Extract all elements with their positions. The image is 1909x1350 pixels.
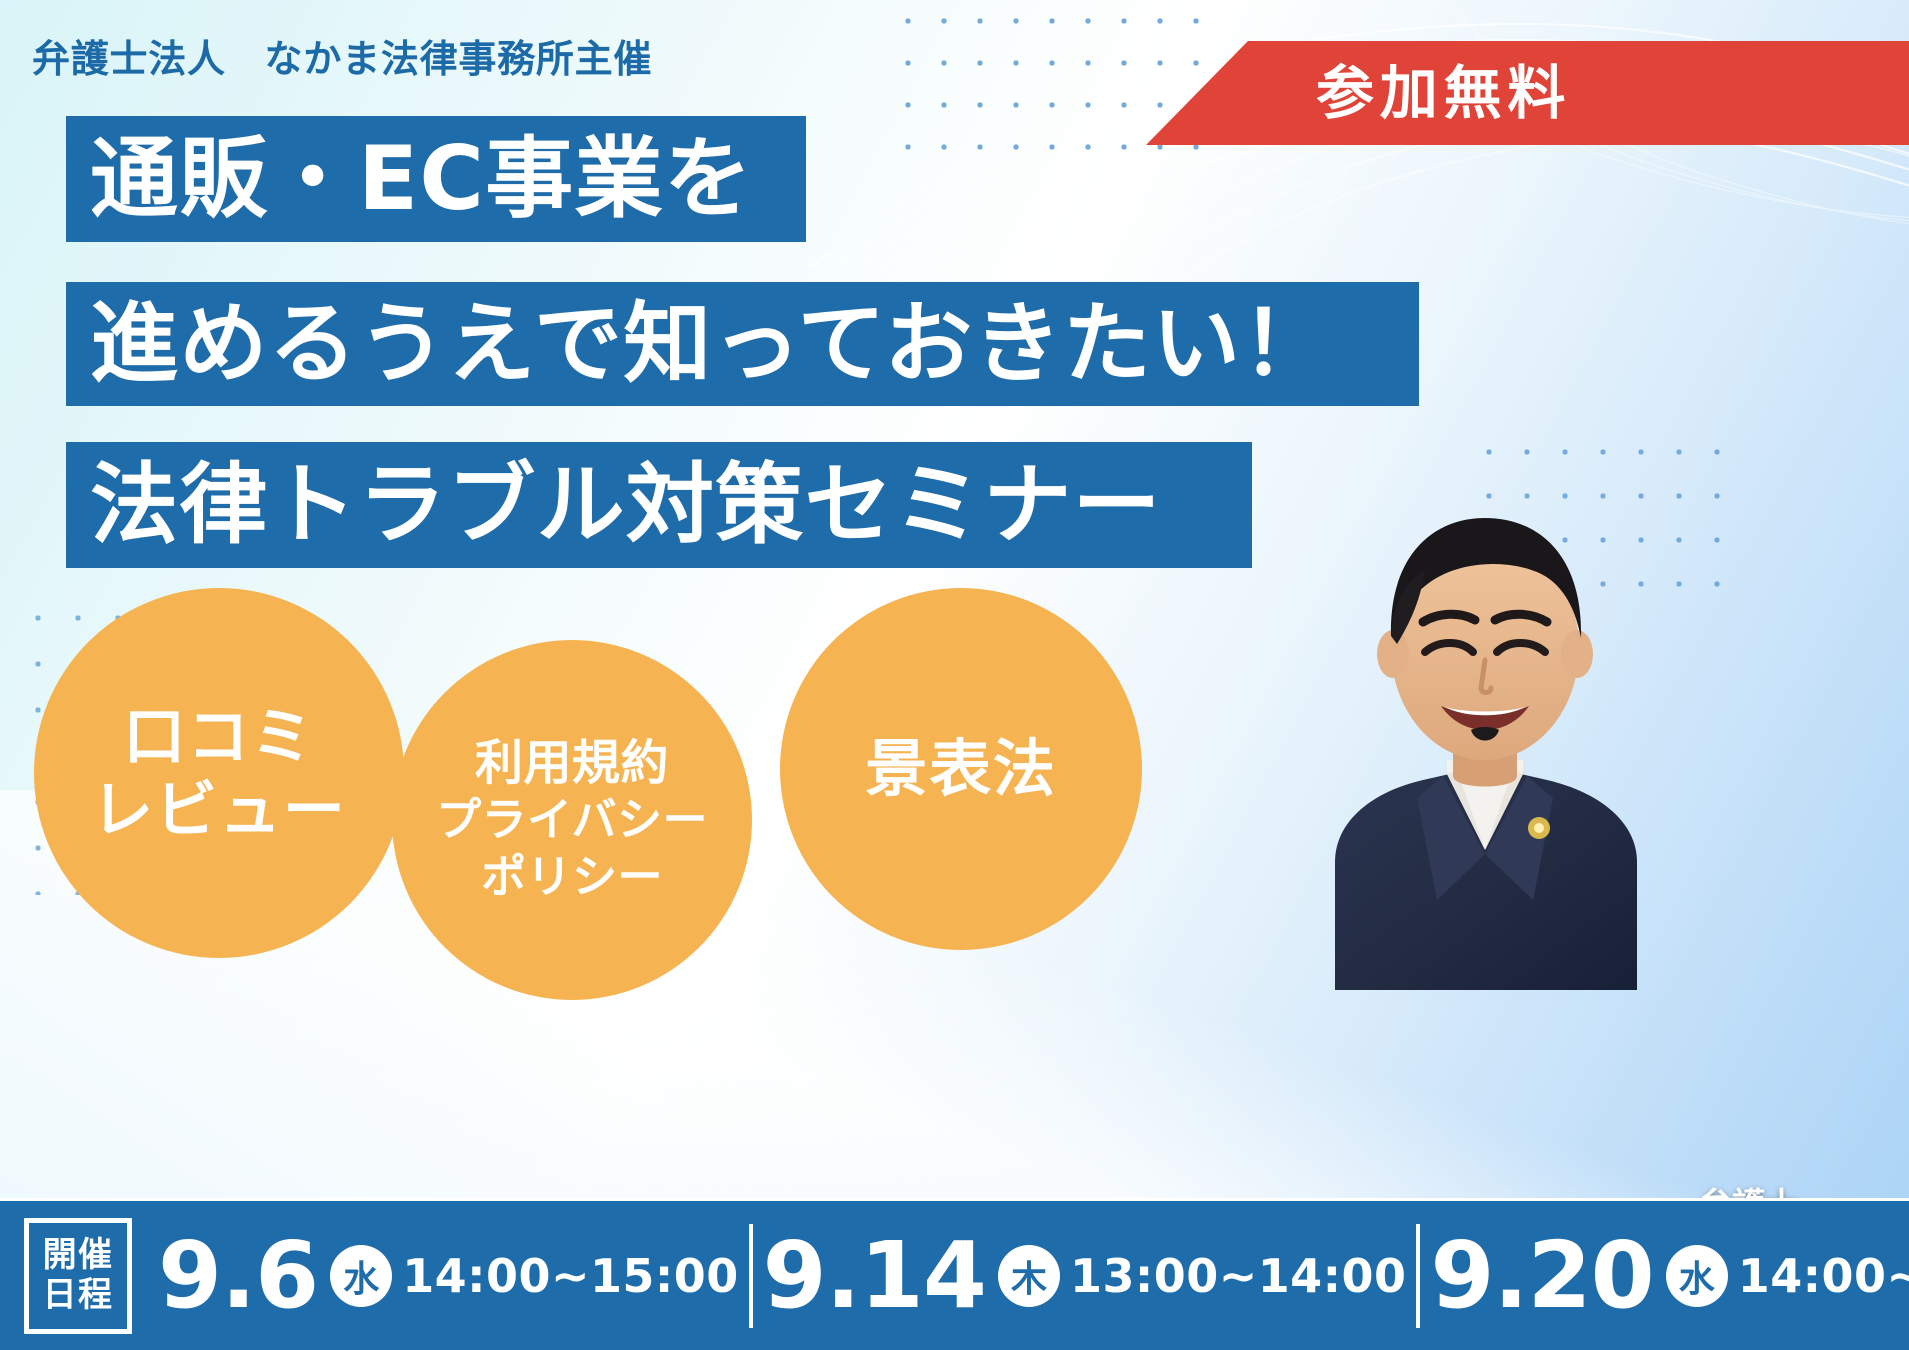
title-line2: 進めるうえで知っておきたい！ — [66, 300, 1331, 388]
title-bar-line3: 法律トラブル対策セミナー — [66, 442, 1252, 568]
schedule-date-2-day: 9.14 — [763, 1230, 986, 1322]
schedule-date-3: 9.20 水 14:00~15:00 — [1420, 1201, 1909, 1350]
title-bar-line1: 通販・EC事業を — [66, 116, 806, 242]
schedule-date-3-dow: 水 — [1666, 1245, 1728, 1307]
schedule-date-1-time: 14:00~15:00 — [402, 1249, 738, 1303]
schedule-date-2: 9.14 木 13:00~14:00 — [753, 1201, 1417, 1350]
schedule-date-2-dow: 木 — [998, 1245, 1060, 1307]
topic-kuchikomi-line1: 口コミ — [123, 700, 315, 773]
schedule-label-line1: 開催 — [43, 1236, 114, 1275]
schedule-date-3-time: 14:00~15:00 — [1738, 1249, 1909, 1303]
free-participation-badge: 参加無料 — [1146, 41, 1909, 145]
topic-riyoukiyaku-line3: ポリシー — [481, 849, 663, 906]
title-bar-line2: 進めるうえで知っておきたい！ — [66, 282, 1419, 406]
schedule-label: 開催 日程 — [24, 1218, 132, 1334]
topic-riyoukiyaku-line2: プライバシー — [436, 792, 708, 849]
schedule-date-3-day: 9.20 — [1430, 1230, 1653, 1322]
topic-circle-riyoukiyaku: 利用規約 プライバシー ポリシー — [392, 640, 752, 1000]
seminar-banner: 弁護士法人 なかま法律事務所主催 参加無料 通販・EC事業を 進めるうえで知って… — [0, 0, 1909, 1350]
topic-circle-kuchikomi: 口コミ レビュー — [34, 588, 404, 958]
topic-riyoukiyaku-line1: 利用規約 — [475, 735, 669, 793]
title-line3: 法律トラブル対策セミナー — [66, 461, 1162, 549]
schedule-label-line2: 日程 — [43, 1276, 114, 1315]
schedule-bar: 開催 日程 9.6 水 14:00~15:00 9.14 木 13:00~14:… — [0, 1198, 1909, 1350]
schedule-date-1: 9.6 水 14:00~15:00 — [148, 1201, 749, 1350]
organizer-text: 弁護士法人 なかま法律事務所主催 — [32, 28, 652, 83]
topic-keihyouhou-line1: 景表法 — [865, 732, 1057, 805]
schedule-dates: 9.6 水 14:00~15:00 9.14 木 13:00~14:00 9.2… — [148, 1201, 1909, 1350]
topic-circle-keihyouhou: 景表法 — [780, 588, 1142, 950]
title-line1: 通販・EC事業を — [66, 135, 753, 223]
schedule-date-2-time: 13:00~14:00 — [1070, 1249, 1406, 1303]
schedule-date-1-dow: 水 — [330, 1245, 392, 1307]
speaker-portrait — [1185, 430, 1785, 990]
free-participation-label: 参加無料 — [1316, 64, 1571, 122]
schedule-date-1-day: 9.6 — [158, 1230, 318, 1322]
topic-kuchikomi-line2: レビュー — [91, 773, 346, 846]
